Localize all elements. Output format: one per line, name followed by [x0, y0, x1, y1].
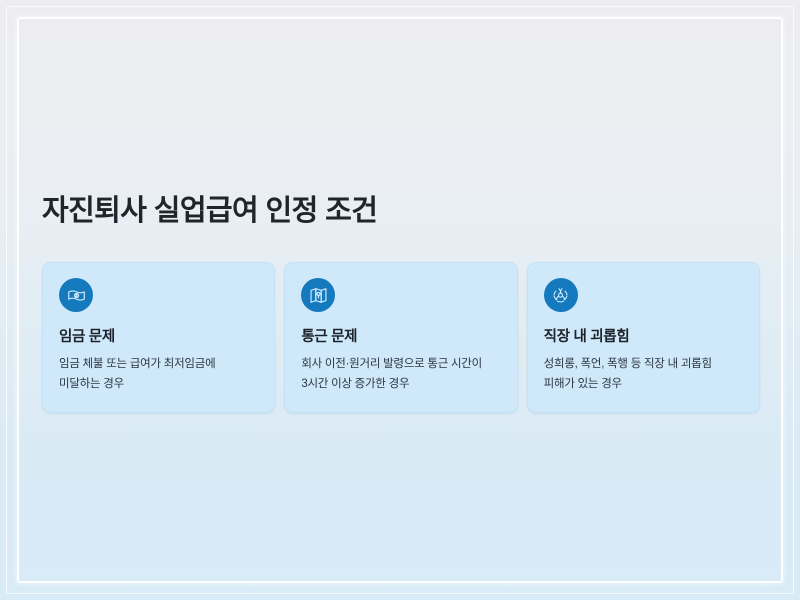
- content-stage: 자진퇴사 실업급여 인정 조건 임금 문제 임금 체불 또는 급여가 최저임금에…: [21, 21, 779, 579]
- condition-card-harassment[interactable]: 직장 내 괴롭힘 성희롱, 폭언, 폭행 등 직장 내 괴롭힘 피해가 있는 경…: [527, 262, 760, 413]
- condition-card-commute[interactable]: 통근 문제 회사 이전·원거리 발령으로 통근 시간이 3시간 이상 증가한 경…: [284, 262, 517, 413]
- card-title: 통근 문제: [301, 329, 500, 346]
- page-title: 자진퇴사 실업급여 인정 조건: [42, 187, 377, 229]
- banknote-icon: [59, 278, 93, 312]
- map-icon: [301, 278, 335, 312]
- card-title: 임금 문제: [59, 329, 258, 346]
- condition-card-wage[interactable]: 임금 문제 임금 체불 또는 급여가 최저임금에 미달하는 경우: [42, 262, 275, 413]
- card-title: 직장 내 괴롭힘: [544, 329, 743, 346]
- biohazard-icon: [544, 278, 578, 312]
- card-body: 임금 체불 또는 급여가 최저임금에 미달하는 경우: [59, 355, 258, 395]
- card-body: 회사 이전·원거리 발령으로 통근 시간이 3시간 이상 증가한 경우: [301, 355, 500, 395]
- card-body: 성희롱, 폭언, 폭행 등 직장 내 괴롭힘 피해가 있는 경우: [544, 355, 743, 395]
- condition-card-row: 임금 문제 임금 체불 또는 급여가 최저임금에 미달하는 경우 통근 문제 회…: [42, 262, 760, 413]
